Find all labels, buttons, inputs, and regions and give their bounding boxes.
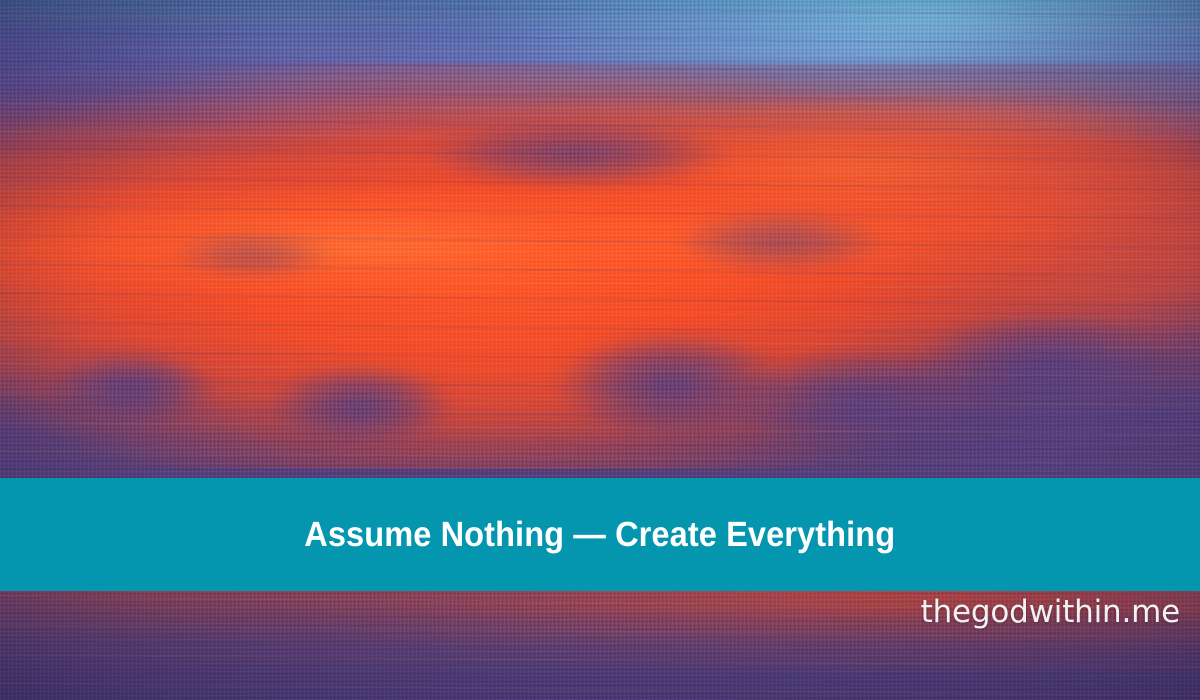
banner-image: Assume Nothing — Create Everything thego… bbox=[0, 0, 1200, 700]
site-watermark: thegodwithin.me bbox=[921, 597, 1180, 628]
title-band: Assume Nothing — Create Everything bbox=[0, 478, 1200, 591]
page-title: Assume Nothing — Create Everything bbox=[305, 517, 896, 552]
